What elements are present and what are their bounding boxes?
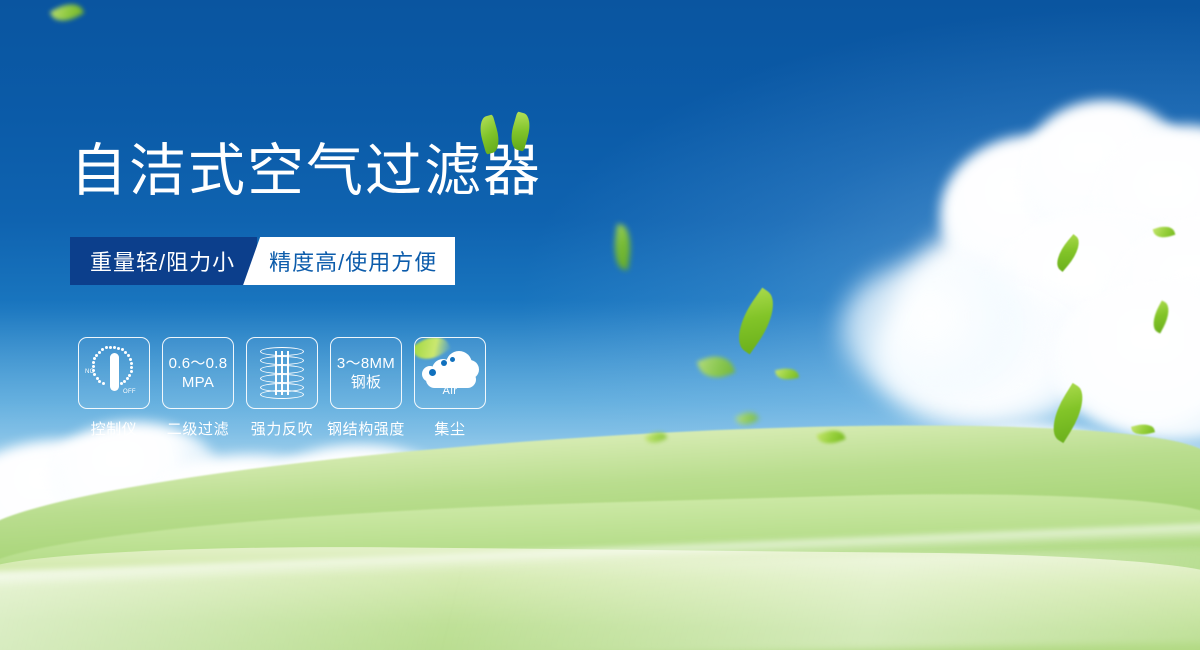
badge-weight-resistance: 重量轻/阻力小 <box>70 237 257 285</box>
feature-box: 0.6～0.8 MPA <box>162 337 234 409</box>
cloud-air-icon: Air <box>420 347 480 399</box>
feature-item-dust-collection[interactable]: Air 集尘 <box>414 337 486 439</box>
feature-box <box>246 337 318 409</box>
feature-box: NO OFF <box>78 337 150 409</box>
steel-value-line2: 钢板 <box>351 373 382 392</box>
feature-icon-row: NO OFF 控制仪 0.6～0.8 MPA 二级过滤 <box>78 337 486 439</box>
badge-precision-ease: 精度高/使用方便 <box>243 237 455 285</box>
feature-item-controller[interactable]: NO OFF 控制仪 <box>78 337 150 439</box>
pressure-value-line1: 0.6～0.8 <box>169 354 228 373</box>
feature-item-two-stage-filter[interactable]: 0.6～0.8 MPA 二级过滤 <box>162 337 234 439</box>
pressure-value-line2: MPA <box>182 373 214 392</box>
feature-caption: 集尘 <box>434 418 465 439</box>
feature-box: 3～8MM 钢板 <box>330 337 402 409</box>
coil-filter-icon <box>260 347 304 399</box>
feature-caption: 钢结构强度 <box>327 418 405 439</box>
tagline-badges: 重量轻/阻力小 精度高/使用方便 <box>70 237 455 285</box>
feature-caption: 控制仪 <box>91 418 138 439</box>
feature-item-steel-strength[interactable]: 3～8MM 钢板 钢结构强度 <box>330 337 402 439</box>
gauge-off-label: OFF <box>123 389 136 395</box>
feature-caption: 二级过滤 <box>167 418 229 439</box>
steel-value-line1: 3～8MM <box>337 354 395 373</box>
feature-box: Air <box>414 337 486 409</box>
gauge-on-label: NO <box>85 369 95 375</box>
promo-banner: 自洁式空气过滤器 重量轻/阻力小 精度高/使用方便 NO OFF 控制仪 0.6… <box>0 0 1200 650</box>
feature-caption: 强力反吹 <box>251 418 313 439</box>
feature-item-backwash[interactable]: 强力反吹 <box>246 337 318 439</box>
page-title: 自洁式空气过滤器 <box>70 143 542 200</box>
gauge-needle <box>110 353 119 391</box>
gauge-icon: NO OFF <box>85 345 143 401</box>
air-label: Air <box>420 385 480 397</box>
